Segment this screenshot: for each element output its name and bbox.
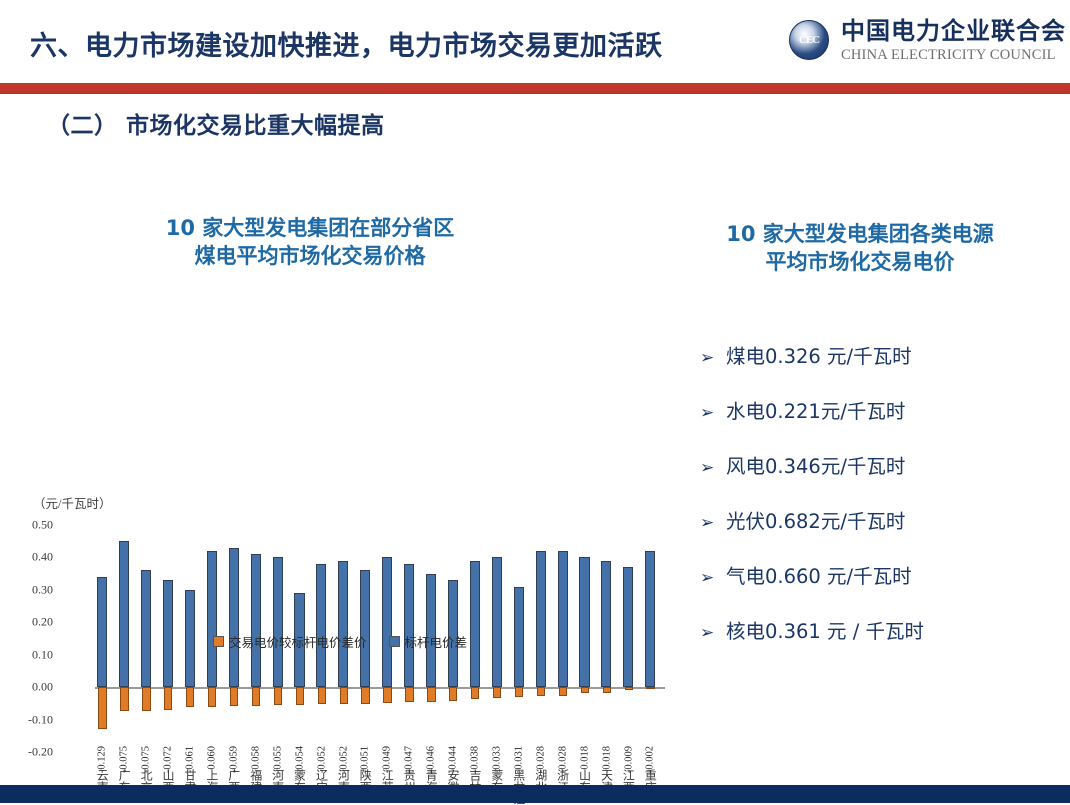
header-divider-rule bbox=[0, 83, 1070, 94]
bar-trade-price-diff bbox=[515, 687, 523, 697]
bar-trade-price-diff bbox=[318, 687, 326, 704]
bar-trade-price-diff bbox=[340, 687, 348, 704]
y-axis-tick-label: 0.50 bbox=[3, 518, 53, 533]
bar-trade-price-diff bbox=[449, 687, 457, 701]
bar-benchmark-diff bbox=[360, 570, 370, 687]
bullet-label: 气电0.660 元/千瓦时 bbox=[726, 560, 912, 589]
cec-emblem-icon bbox=[789, 20, 829, 60]
bullet-arrow-icon: ➢ bbox=[700, 568, 726, 588]
bar-trade-price-diff bbox=[427, 687, 435, 702]
bar-trade-price-diff bbox=[471, 687, 479, 699]
chart-title-line1: 10 家大型发电集团在部分省区 bbox=[40, 214, 580, 242]
y-axis-tick-label: 0.40 bbox=[3, 550, 53, 565]
section-subtitle: （二） 市场化交易比重大幅提高 bbox=[47, 106, 385, 140]
bar-trade-price-diff bbox=[186, 687, 194, 707]
y-axis-tick-label: 0.10 bbox=[3, 647, 53, 662]
right-panel-title-line2: 平均市场化交易电价 bbox=[650, 248, 1070, 276]
logo-name-cn: 中国电力企业联合会 bbox=[841, 19, 1066, 44]
bar-trade-price-diff bbox=[252, 687, 260, 706]
bar-trade-price-diff bbox=[493, 687, 501, 698]
bar-trade-price-diff bbox=[361, 687, 369, 704]
bar-benchmark-diff bbox=[207, 551, 217, 687]
bar-benchmark-diff bbox=[536, 551, 546, 687]
bar-benchmark-diff bbox=[382, 557, 392, 687]
bar-benchmark-diff bbox=[229, 548, 239, 687]
bullet-arrow-icon: ➢ bbox=[700, 623, 726, 643]
legend-swatch-icon-blue bbox=[389, 636, 400, 647]
chart-panel: 10 家大型发电集团在部分省区 煤电平均市场化交易价格 （元/千瓦时） 0.50… bbox=[0, 200, 620, 680]
chart-legend: 交易电价较标杆电价差价 标杆电价差 bbox=[55, 632, 625, 651]
y-axis-tick-label: 0.30 bbox=[3, 582, 53, 597]
bullet-arrow-icon: ➢ bbox=[700, 513, 726, 533]
bar-trade-price-diff bbox=[230, 687, 238, 706]
bullet-label: 核电0.361 元 / 千瓦时 bbox=[726, 615, 924, 644]
bar-benchmark-diff bbox=[338, 561, 348, 687]
bar-benchmark-diff bbox=[470, 561, 480, 687]
legend-label-blue: 标杆电价差 bbox=[405, 632, 468, 651]
bar-trade-price-diff bbox=[559, 687, 567, 696]
bar-trade-price-diff bbox=[581, 687, 589, 693]
bar-trade-price-diff bbox=[405, 687, 413, 702]
slide-header: 六、电力市场建设加快推进，电力市场交易更加活跃 中国电力企业联合会 CHINA … bbox=[0, 0, 1070, 83]
bar-benchmark-diff bbox=[558, 551, 568, 687]
bar-benchmark-diff bbox=[579, 557, 589, 687]
bar-trade-price-diff bbox=[296, 687, 304, 705]
bullet-label: 水电0.221元/千瓦时 bbox=[726, 395, 905, 424]
logo-name-en: CHINA ELECTRICITY COUNCIL bbox=[841, 47, 1066, 64]
page-title: 六、电力市场建设加快推进，电力市场交易更加活跃 bbox=[30, 24, 663, 63]
bar-trade-price-diff bbox=[625, 687, 633, 690]
bullet-label: 风电0.346元/千瓦时 bbox=[726, 450, 905, 479]
bar-benchmark-diff bbox=[141, 570, 151, 687]
legend-swatch-icon-orange bbox=[213, 636, 224, 647]
bullet-label: 光伏0.682元/千瓦时 bbox=[726, 505, 905, 534]
bar-benchmark-diff bbox=[623, 567, 633, 687]
bar-benchmark-diff bbox=[601, 561, 611, 687]
right-panel: 10 家大型发电集团各类电源 平均市场化交易电价 ➢煤电0.326 元/千瓦时➢… bbox=[640, 200, 1070, 680]
bullet-item: ➢气电0.660 元/千瓦时 bbox=[700, 560, 1070, 589]
bar-trade-price-diff bbox=[537, 687, 545, 696]
bar-trade-price-diff bbox=[164, 687, 172, 710]
organization-logo: 中国电力企业联合会 CHINA ELECTRICITY COUNCIL bbox=[789, 19, 1066, 64]
bullet-arrow-icon: ➢ bbox=[700, 348, 726, 368]
logo-text-block: 中国电力企业联合会 CHINA ELECTRICITY COUNCIL bbox=[841, 19, 1066, 64]
bullet-item: ➢光伏0.682元/千瓦时 bbox=[700, 505, 1070, 534]
header-divider-fill bbox=[0, 83, 1070, 94]
legend-item-blue: 标杆电价差 bbox=[389, 632, 468, 651]
bar-trade-price-diff bbox=[646, 687, 654, 689]
bar-trade-price-diff bbox=[603, 687, 611, 693]
bar-trade-price-diff bbox=[120, 687, 128, 711]
bar-trade-price-diff bbox=[208, 687, 216, 706]
y-axis-tick-label: -0.10 bbox=[3, 712, 53, 727]
chart-title-line2: 煤电平均市场化交易价格 bbox=[40, 242, 580, 270]
bar-benchmark-diff bbox=[251, 554, 261, 687]
bar-benchmark-diff bbox=[404, 564, 414, 687]
bullet-arrow-icon: ➢ bbox=[700, 403, 726, 423]
bar-benchmark-diff bbox=[426, 574, 436, 688]
y-axis-tick-label: -0.20 bbox=[3, 745, 53, 760]
bar-trade-price-diff bbox=[98, 687, 106, 729]
bullet-item: ➢水电0.221元/千瓦时 bbox=[700, 395, 1070, 424]
bullet-item: ➢煤电0.326 元/千瓦时 bbox=[700, 340, 1070, 369]
y-axis-tick-label: 0.20 bbox=[3, 615, 53, 630]
right-panel-title: 10 家大型发电集团各类电源 平均市场化交易电价 bbox=[650, 220, 1070, 277]
footer-bar bbox=[0, 785, 1070, 803]
bar-benchmark-diff bbox=[119, 541, 129, 687]
bullet-label: 煤电0.326 元/千瓦时 bbox=[726, 340, 912, 369]
chart-title: 10 家大型发电集团在部分省区 煤电平均市场化交易价格 bbox=[40, 214, 580, 271]
legend-item-orange: 交易电价较标杆电价差价 bbox=[213, 632, 367, 651]
bar-benchmark-diff bbox=[316, 564, 326, 687]
y-axis-unit-label: （元/千瓦时） bbox=[33, 493, 111, 512]
y-axis-tick-label: 0.00 bbox=[3, 680, 53, 695]
bar-trade-price-diff bbox=[383, 687, 391, 703]
bar-benchmark-diff bbox=[492, 557, 502, 687]
legend-label-orange: 交易电价较标杆电价差价 bbox=[229, 632, 367, 651]
bullet-arrow-icon: ➢ bbox=[700, 458, 726, 478]
bullet-list: ➢煤电0.326 元/千瓦时➢水电0.221元/千瓦时➢风电0.346元/千瓦时… bbox=[700, 340, 1070, 670]
bar-trade-price-diff bbox=[142, 687, 150, 711]
bullet-item: ➢风电0.346元/千瓦时 bbox=[700, 450, 1070, 479]
right-panel-title-line1: 10 家大型发电集团各类电源 bbox=[650, 220, 1070, 248]
bar-trade-price-diff bbox=[274, 687, 282, 705]
bullet-item: ➢核电0.361 元 / 千瓦时 bbox=[700, 615, 1070, 644]
bar-benchmark-diff bbox=[273, 557, 283, 687]
